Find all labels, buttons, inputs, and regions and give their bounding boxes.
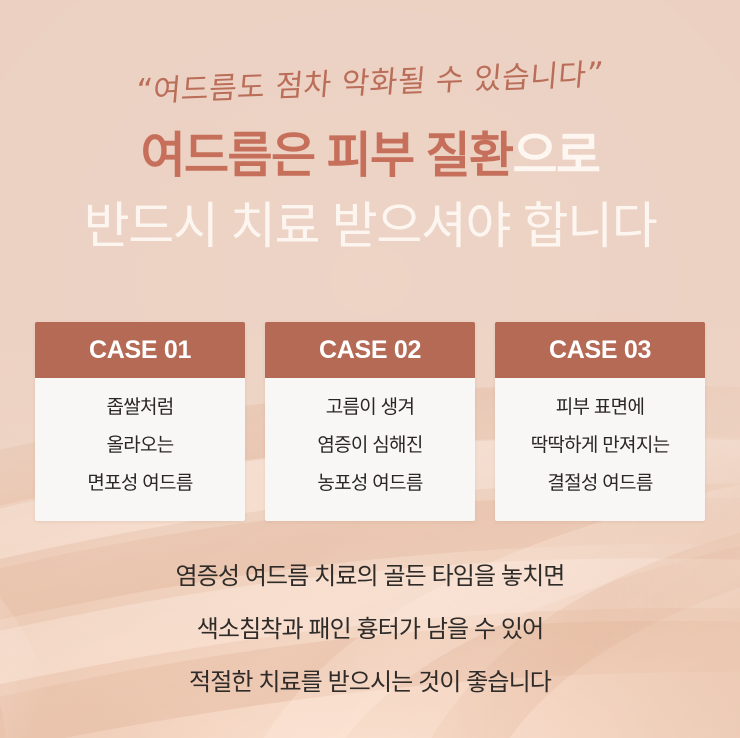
case-card-01: CASE 01 좁쌀처럼 올라오는 면포성 여드름: [35, 322, 245, 521]
headline-suffix: 으로: [512, 129, 599, 183]
case-card-03-line-2: 딱딱하게 만져지는: [503, 436, 697, 455]
headline-emphasis: 여드름은 피부 질환: [141, 129, 513, 183]
quote-text: 여드름도 점차 악화될 수 있습니다: [152, 58, 588, 109]
poster-content: “여드름도 점차 악화될 수 있습니다” 여드름은 피부 질환으로 반드시 치료…: [0, 0, 740, 738]
footer-line-3: 적절한 치료를 받으시는 것이 좋습니다: [0, 662, 740, 697]
case-card-01-line-1: 좁쌀처럼: [43, 398, 237, 417]
case-card-03-title: CASE 03: [495, 322, 705, 378]
case-card-03: CASE 03 피부 표면에 딱딱하게 만져지는 결절성 여드름: [495, 322, 705, 521]
case-card-03-line-3: 결절성 여드름: [503, 474, 697, 493]
promo-poster: “여드름도 점차 악화될 수 있습니다” 여드름은 피부 질환으로 반드시 치료…: [0, 0, 740, 738]
page-title: 여드름은 피부 질환으로 반드시 치료 받으셔야 합니다: [0, 128, 740, 255]
case-card-02-body: 고름이 생겨 염증이 심해진 농포성 여드름: [265, 378, 475, 521]
quote-close-mark: ”: [585, 54, 605, 93]
case-card-02-line-1: 고름이 생겨: [273, 398, 467, 417]
footer-line-1: 염증성 여드름 치료의 골든 타임을 놓치면: [0, 556, 740, 591]
case-card-03-body: 피부 표면에 딱딱하게 만져지는 결절성 여드름: [495, 378, 705, 521]
headline-line-1: 여드름은 피부 질환으로: [0, 128, 740, 185]
case-card-01-line-2: 올라오는: [43, 436, 237, 455]
case-card-02: CASE 02 고름이 생겨 염증이 심해진 농포성 여드름: [265, 322, 475, 521]
case-card-01-line-3: 면포성 여드름: [43, 474, 237, 493]
footer-paragraph: 염증성 여드름 치료의 골든 타임을 놓치면 색소침착과 패인 흉터가 남을 수…: [0, 556, 740, 697]
case-card-01-body: 좁쌀처럼 올라오는 면포성 여드름: [35, 378, 245, 521]
case-card-03-line-1: 피부 표면에: [503, 398, 697, 417]
case-card-02-line-2: 염증이 심해진: [273, 436, 467, 455]
handwritten-quote: “여드름도 점차 악화될 수 있습니다”: [0, 44, 740, 115]
case-card-02-title: CASE 02: [265, 322, 475, 378]
case-card-01-title: CASE 01: [35, 322, 245, 378]
case-card-02-line-3: 농포성 여드름: [273, 474, 467, 493]
headline-line-2: 반드시 치료 받으셔야 합니다: [0, 197, 740, 255]
footer-line-2: 색소침착과 패인 흉터가 남을 수 있어: [0, 609, 740, 644]
case-card-list: CASE 01 좁쌀처럼 올라오는 면포성 여드름 CASE 02 고름이 생겨…: [35, 322, 705, 521]
